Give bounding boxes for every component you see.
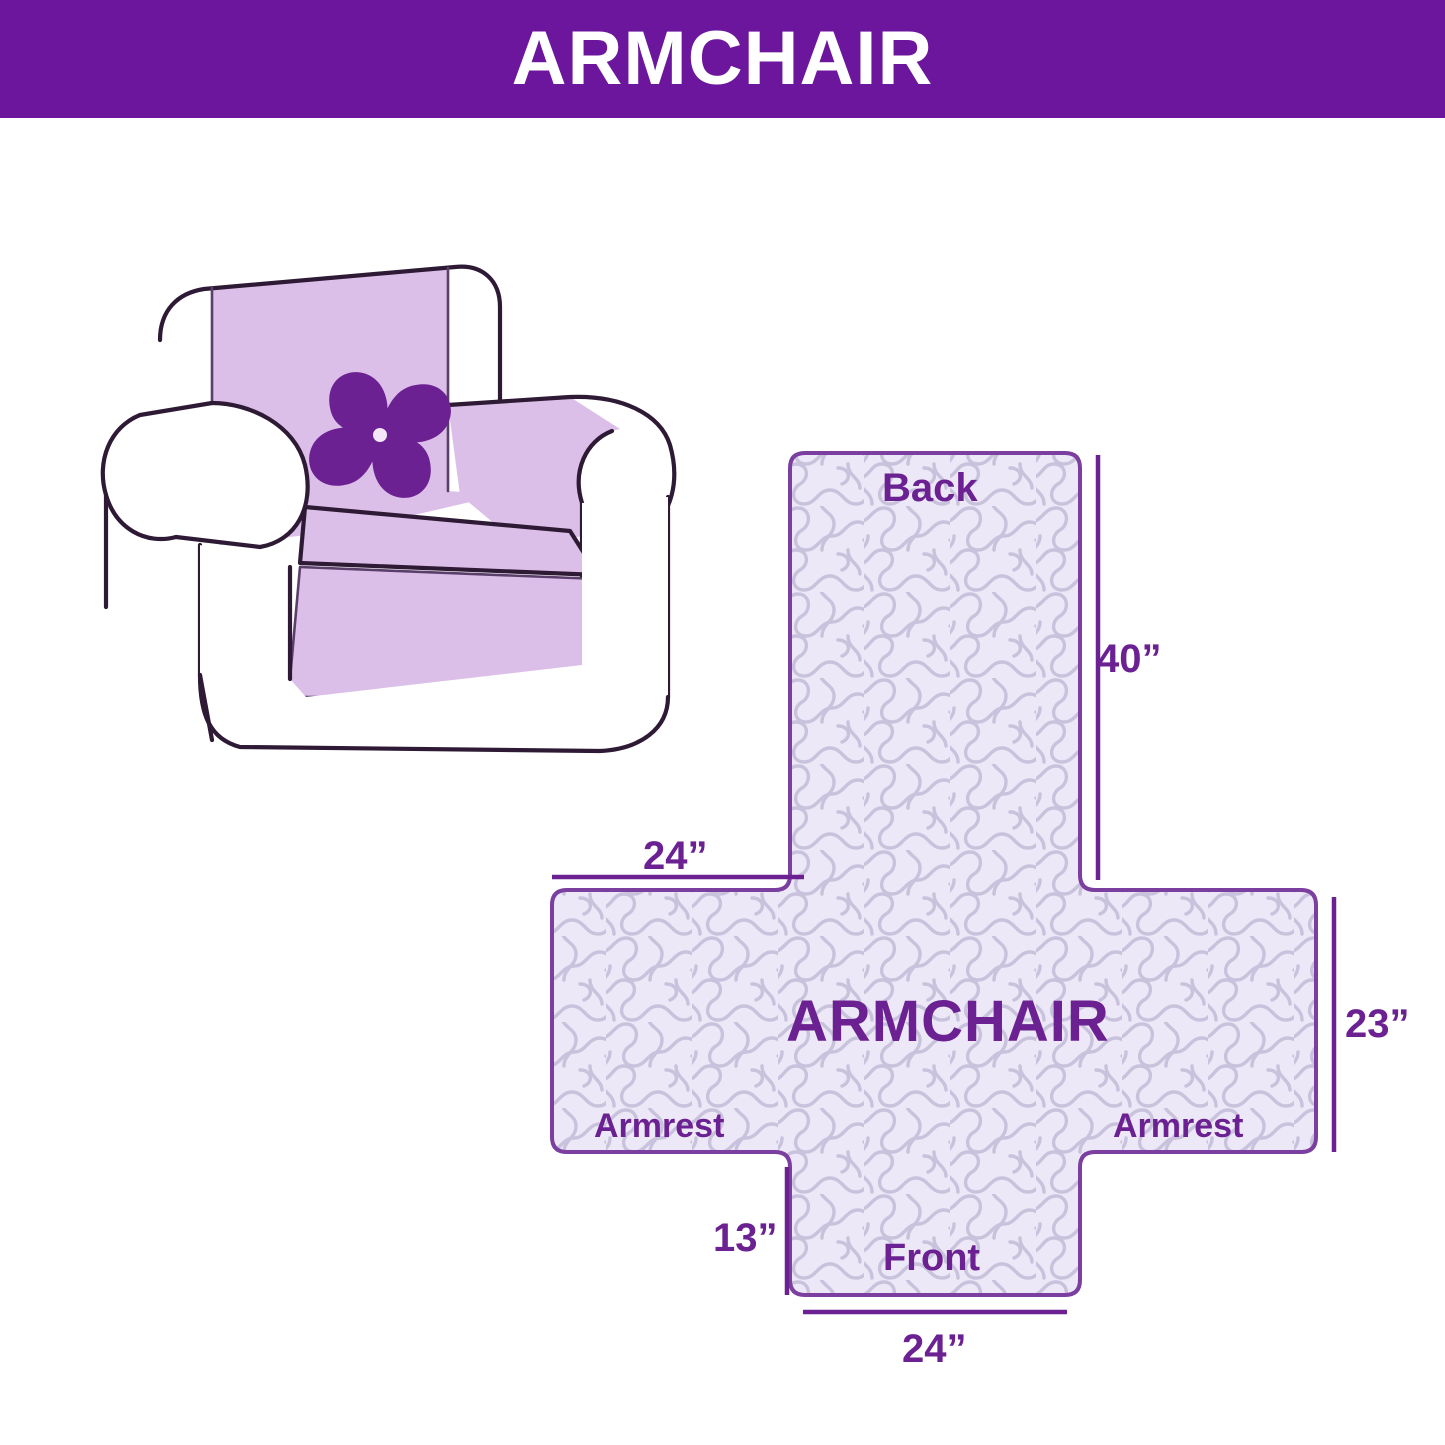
label-armrest-right: Armrest bbox=[1113, 1107, 1243, 1146]
fan-hub bbox=[373, 428, 387, 442]
header-banner: ARMCHAIR bbox=[0, 0, 1445, 118]
label-back: Back bbox=[882, 466, 978, 511]
dimension-label-front-width: 24” bbox=[902, 1327, 967, 1372]
dimension-label-back-height: 40” bbox=[1097, 637, 1162, 682]
label-front: Front bbox=[883, 1237, 980, 1280]
page-title: ARMCHAIR bbox=[512, 21, 934, 97]
dimension-label-seat-depth: 23” bbox=[1345, 1002, 1410, 1047]
dimension-label-front-drop: 13” bbox=[713, 1216, 778, 1261]
label-armchair: ARMCHAIR bbox=[786, 988, 1110, 1055]
label-armrest-left: Armrest bbox=[594, 1107, 724, 1146]
dimension-label-armrest-width: 24” bbox=[643, 834, 708, 879]
cover-diagram bbox=[520, 420, 1420, 1380]
